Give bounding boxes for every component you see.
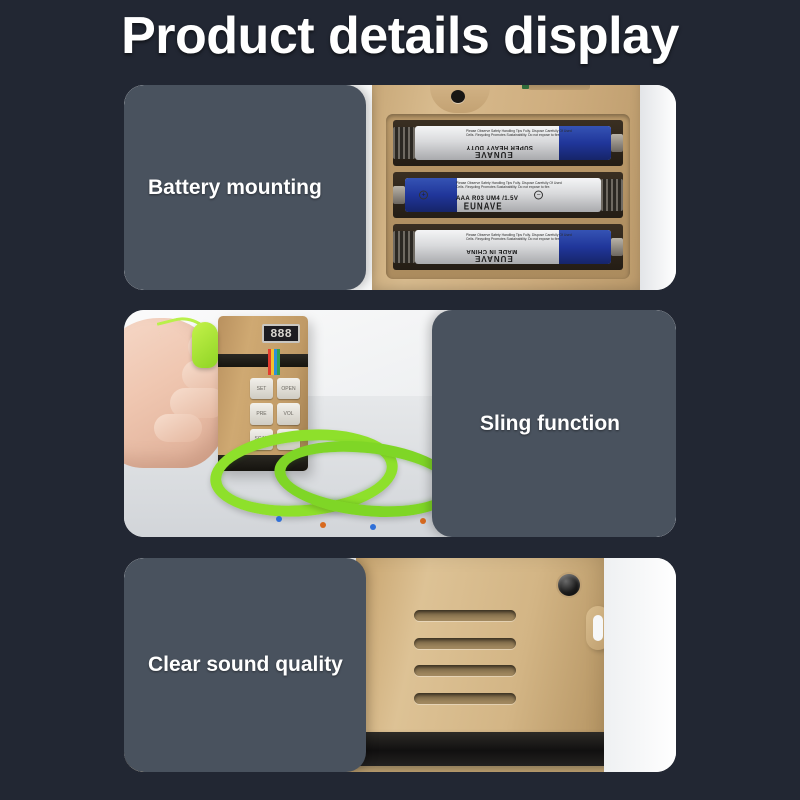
device-trim-band (218, 354, 308, 367)
panel-label-text: Sling function (480, 412, 620, 436)
key-open[interactable]: OPEN (277, 378, 300, 399)
device-housing: Please Observe Safety Handling Tips Full… (372, 85, 642, 290)
photo-right-edge (640, 85, 676, 290)
battery-fine-print: Please Observe Safety Handling Tips Full… (466, 129, 572, 137)
display-digits: 888 (270, 327, 292, 341)
lanyard-clip (192, 322, 218, 368)
battery-slot: Please Observe Safety Handling Tips Full… (393, 120, 623, 166)
led-display: 888 (262, 324, 300, 343)
label-card-sling-function: Sling function (432, 310, 676, 537)
panel-sling-function: 888 SET OPEN PRE VOL SCAN LAMP Sling fun… (124, 310, 676, 537)
battery-fine-print: Please Observe Safety Handling Tips Full… (456, 181, 562, 189)
battery-cell: Please Observe Safety Handling Tips Full… (415, 126, 611, 160)
thumb (154, 414, 202, 442)
lanyard-print-dot (320, 522, 326, 528)
terminal-nub-icon (393, 186, 405, 204)
speaker-slot (414, 693, 516, 704)
key-pre[interactable]: PRE (250, 403, 273, 424)
speaker-slot (414, 610, 516, 621)
battery-minus-icon: − (534, 191, 543, 200)
green-indicator-icon (522, 85, 529, 89)
panel-clear-sound-quality: Clear sound quality (124, 558, 676, 772)
key-set[interactable]: SET (250, 378, 273, 399)
lanyard-print-dot (276, 516, 282, 522)
panel-label-text: Battery mounting (148, 176, 322, 200)
battery-cell: Please Observe Safety Handling Tips Full… (405, 178, 601, 212)
spring-contact-icon (393, 127, 415, 159)
speaker-slot (414, 638, 516, 649)
speaker-slot (414, 665, 516, 676)
battery-brand-text: EUNAVE (474, 254, 513, 263)
battery-slot: Please Observe Safety Handling Tips Full… (393, 172, 623, 218)
page-title: Product details display (0, 6, 800, 66)
battery-brand-text: EUNAVE (464, 201, 503, 212)
screw-boss (430, 85, 490, 113)
battery-positive-cap (405, 178, 457, 212)
lanyard-print-dot (420, 518, 426, 524)
lanyard-print-dot (370, 524, 376, 530)
terminal-nub-icon (611, 134, 623, 152)
battery-brand-text: EUNAVE (474, 150, 513, 159)
port-icon (558, 574, 580, 596)
terminal-nub-icon (611, 238, 623, 256)
battery-plus-icon: + (419, 191, 428, 200)
housing-top-tab (528, 85, 590, 90)
speaker-grille (414, 610, 516, 704)
photo-right-edge (604, 558, 676, 772)
battery-fine-print: Please Observe Safety Handling Tips Full… (466, 233, 572, 241)
screw-icon (451, 90, 465, 103)
panel-label-text: Clear sound quality (148, 653, 343, 677)
panel-battery-mounting: Please Observe Safety Handling Tips Full… (124, 85, 676, 290)
label-card-battery-mounting: Battery mounting (124, 85, 366, 290)
battery-cell: Please Observe Safety Handling Tips Full… (415, 230, 611, 264)
key-vol[interactable]: VOL (277, 403, 300, 424)
label-card-clear-sound-quality: Clear sound quality (124, 558, 366, 772)
battery-bay: Please Observe Safety Handling Tips Full… (386, 114, 630, 279)
rainbow-stripe-icon (268, 349, 280, 375)
device-back-housing (356, 558, 614, 760)
battery-slot: Please Observe Safety Handling Tips Full… (393, 224, 623, 270)
lanyard-loop-hole (593, 615, 603, 641)
spring-contact-icon (601, 179, 623, 211)
spring-contact-icon (393, 231, 415, 263)
